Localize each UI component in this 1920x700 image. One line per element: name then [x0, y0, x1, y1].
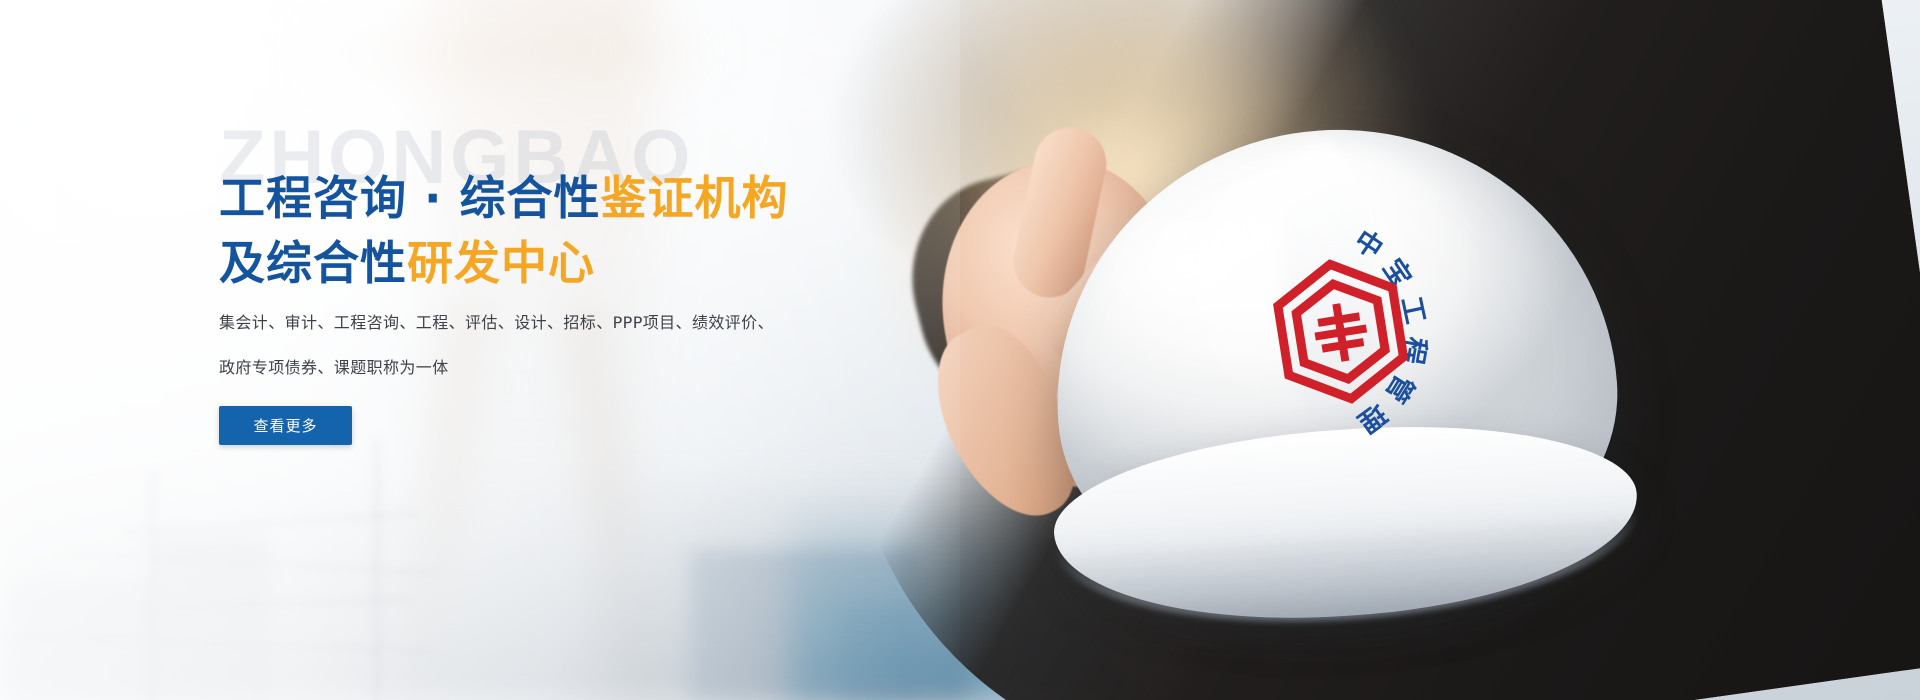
hard-hat: 中宝工程管理: [1039, 111, 1630, 619]
scaffold-post: [148, 470, 157, 700]
headline-line-2-blue: 及综合性: [219, 236, 407, 290]
headline-line-1: 工程咨询 · 综合性鉴证机构: [219, 166, 979, 231]
description-line-2: 政府专项债券、课题职称为一体: [219, 358, 829, 377]
hero-banner: 中宝工程管理 ZHONGBAO 工程咨询 · 综合性鉴证机构 及综合性研发中心 …: [0, 0, 1920, 700]
hero-description: 集会计、审计、工程咨询、工程、评估、设计、招标、PPP项目、绩效评价、 政府专项…: [219, 313, 829, 403]
zhongbao-hexagon-logo: [1264, 248, 1418, 415]
headline-line-2-orange: 研发中心: [407, 236, 595, 290]
headline-line-1-orange: 鉴证机构: [601, 171, 789, 225]
headline-line-2: 及综合性研发中心: [219, 231, 979, 296]
description-line-1: 集会计、审计、工程咨询、工程、评估、设计、招标、PPP项目、绩效评价、: [219, 313, 829, 332]
hero-content: ZHONGBAO 工程咨询 · 综合性鉴证机构 及综合性研发中心 集会计、审计、…: [219, 0, 979, 700]
view-more-button[interactable]: 查看更多: [219, 406, 352, 445]
headline-line-1-blue: 工程咨询 · 综合性: [219, 171, 601, 225]
hero-headline: 工程咨询 · 综合性鉴证机构 及综合性研发中心: [219, 166, 979, 296]
